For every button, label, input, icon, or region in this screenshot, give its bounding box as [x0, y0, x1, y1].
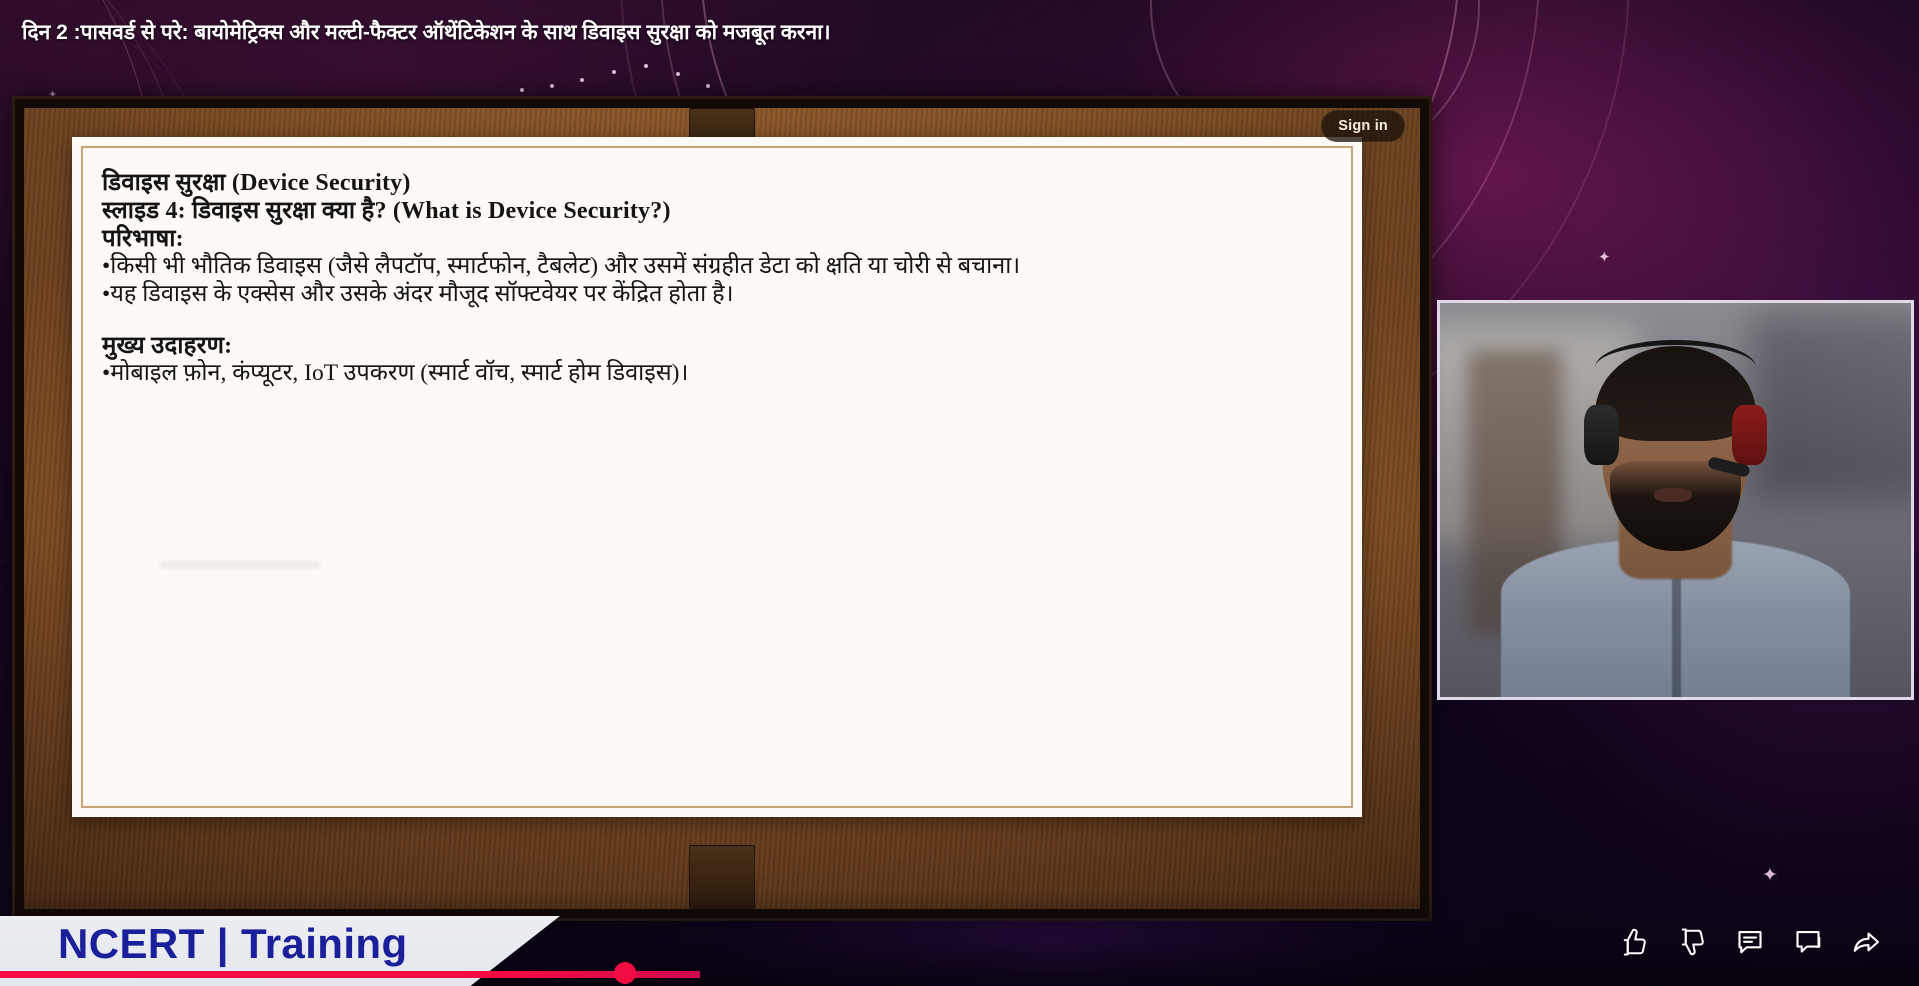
headphone-earcup-left [1584, 405, 1619, 464]
comment-icon[interactable] [1793, 927, 1823, 957]
webcam-blur-right [1751, 311, 1914, 500]
slide-smudge [160, 562, 320, 568]
slide-definition-bullet-2: •यह डिवाइस के एक्सेस और उसके अंदर मौजूद … [102, 281, 1334, 308]
sparkle-icon: ✦ [1598, 248, 1611, 266]
slide-definition-label: परिभाषा: [102, 225, 1334, 253]
slide-examples-label: मुख्य उदाहरण: [102, 332, 1334, 360]
reaction-toolbar [1599, 914, 1901, 970]
slide-heading: डिवाइस सुरक्षा (Device Security) [102, 169, 1334, 197]
video-stage: ✦ ✦ ✦ दिन 2 :पासवर्ड से परे: बायोमेट्रिक… [0, 0, 1919, 986]
page-title: दिन 2 :पासवर्ड से परे: बायोमेट्रिक्स और … [22, 18, 831, 46]
slide-paper: डिवाइस सुरक्षा (Device Security) स्लाइड … [72, 137, 1362, 817]
slide-content: डिवाइस सुरक्षा (Device Security) स्लाइड … [102, 169, 1334, 388]
thumbs-up-icon[interactable] [1619, 927, 1649, 957]
slide-definition-bullet-1: •किसी भी भौतिक डिवाइस (जैसे लैपटॉप, स्मा… [102, 253, 1334, 280]
sparkle-icon: ✦ [1762, 864, 1778, 887]
sign-in-button[interactable]: Sign in [1321, 110, 1405, 142]
slide-spacer [102, 308, 1334, 332]
headphone-earcup-right [1732, 405, 1767, 464]
video-title-bar: दिन 2 :पासवर्ड से परे: बायोमेट्रिक्स और … [0, 0, 1919, 64]
board-clamp-bottom [689, 845, 755, 909]
decorative-dots [520, 60, 720, 100]
participant-video-tile[interactable] [1437, 300, 1914, 700]
progress-bar-track[interactable] [0, 971, 700, 978]
shared-screen-region[interactable]: डिवाइस सुरक्षा (Device Security) स्लाइड … [12, 96, 1432, 921]
share-icon[interactable] [1851, 927, 1881, 957]
ncert-banner-label: NCERT | Training [58, 920, 408, 968]
progress-bar-handle[interactable] [614, 962, 636, 984]
slide-subheading: स्लाइड 4: डिवाइस सुरक्षा क्या है? (What … [102, 197, 1334, 225]
chat-icon[interactable] [1735, 927, 1765, 957]
slide-examples-bullet-1: •मोबाइल फ़ोन, कंप्यूटर, IoT उपकरण (स्मार… [102, 360, 1334, 387]
thumbs-down-icon[interactable] [1677, 927, 1707, 957]
participant-mouth [1654, 488, 1692, 502]
